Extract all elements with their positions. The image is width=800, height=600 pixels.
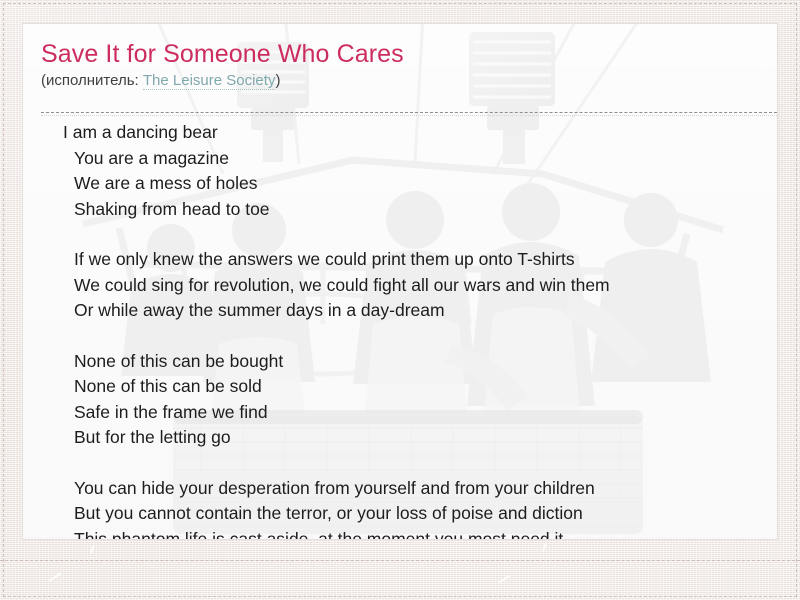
lyric-line: You can hide your desperation from yours… bbox=[41, 476, 771, 502]
lyric-line: We could sing for revolution, we could f… bbox=[41, 273, 771, 299]
song-header: Save It for Someone Who Cares (исполните… bbox=[41, 39, 759, 91]
lyric-line: Or while away the summer days in a day-d… bbox=[41, 298, 771, 324]
separator-dashed-rule bbox=[41, 112, 777, 113]
lyrics-body: I am a dancing bear You are a magazine W… bbox=[41, 120, 771, 540]
artist-prefix-label: (исполнитель: bbox=[41, 72, 143, 89]
lyric-line: But you cannot contain the terror, or yo… bbox=[41, 501, 771, 527]
lyric-line: If we only knew the answers we could pri… bbox=[41, 247, 771, 273]
footer-dashed-rule bbox=[0, 560, 800, 561]
lyric-line: None of this can be bought bbox=[41, 349, 771, 375]
separator-dotted-rule bbox=[41, 115, 777, 116]
lyrics-stanza: None of this can be bought None of this … bbox=[41, 349, 771, 451]
lyric-line: I am a dancing bear bbox=[41, 120, 771, 146]
lyric-line: None of this can be sold bbox=[41, 374, 771, 400]
artist-suffix-label: ) bbox=[275, 72, 280, 89]
lyrics-stanza: If we only knew the answers we could pri… bbox=[41, 247, 771, 324]
lyric-line: Shaking from head to toe bbox=[41, 197, 771, 223]
lyric-line: You are a magazine bbox=[41, 146, 771, 172]
lyrics-stanza: I am a dancing bear You are a magazine W… bbox=[41, 120, 771, 222]
lyric-line: This phantom life is cast aside, at the … bbox=[41, 527, 771, 541]
lyric-line: But for the letting go bbox=[41, 425, 771, 451]
artist-link[interactable]: The Leisure Society bbox=[143, 72, 276, 90]
page-title: Save It for Someone Who Cares bbox=[41, 39, 759, 69]
lyric-line: Safe in the frame we find bbox=[41, 400, 771, 426]
lyrics-content-card: Save It for Someone Who Cares (исполните… bbox=[22, 23, 778, 540]
header-separator bbox=[41, 112, 777, 116]
lyric-line: We are a mess of holes bbox=[41, 171, 771, 197]
artist-line: (исполнитель: The Leisure Society) bbox=[41, 71, 759, 91]
lyrics-stanza: You can hide your desperation from yours… bbox=[41, 476, 771, 541]
